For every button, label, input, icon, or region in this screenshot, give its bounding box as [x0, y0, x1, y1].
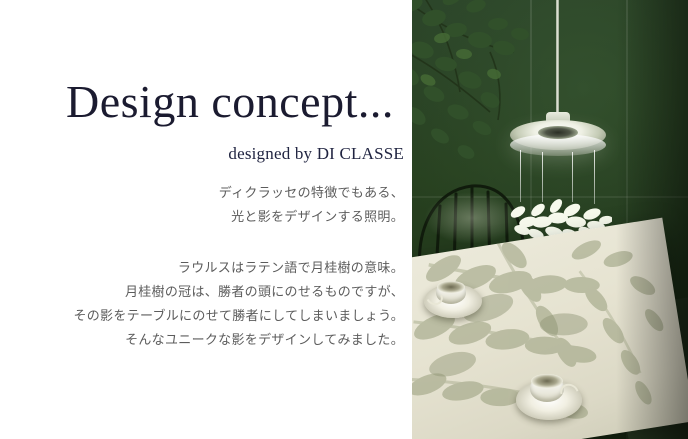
- lamp-hanging-wire: [572, 152, 573, 202]
- paragraph-line: そんなユニークな影をデザインしてみました。: [8, 328, 404, 352]
- cup-rim: [531, 374, 563, 388]
- lamp-hanging-wire: [520, 150, 521, 202]
- paragraph-line: 光と影をデザインする照明。: [8, 205, 404, 229]
- text-column: Design concept... designed by DI CLASSE …: [0, 0, 412, 439]
- coffee-cup-lower: [516, 370, 588, 422]
- lamp-suspension-rod: [556, 0, 559, 118]
- description-paragraph-2: ラウルスはラテン語で月桂樹の意味。 月桂樹の冠は、勝者の頭にのせるものですが、 …: [8, 256, 404, 352]
- product-photo: [412, 0, 688, 439]
- pendant-lamp: [498, 0, 618, 230]
- paragraph-line: ディクラッセの特徴でもある、: [8, 181, 404, 205]
- design-concept-page: Design concept... designed by DI CLASSE …: [0, 0, 688, 439]
- designer-byline: designed by DI CLASSE: [8, 144, 404, 164]
- paragraph-line: 月桂樹の冠は、勝者の頭にのせるものですが、: [8, 280, 404, 304]
- coffee-cup-upper: [424, 278, 484, 322]
- cup-rim: [437, 281, 465, 293]
- page-title: Design concept...: [66, 76, 394, 128]
- lamp-bulb-housing: [538, 126, 578, 139]
- photo-vignette: [616, 0, 688, 439]
- description-paragraph-1: ディクラッセの特徴でもある、 光と影をデザインする照明。: [8, 181, 404, 229]
- lamp-hanging-wire: [542, 152, 543, 202]
- paragraph-line: ラウルスはラテン語で月桂樹の意味。: [8, 256, 404, 280]
- paragraph-line: その影をテーブルにのせて勝者にしてしまいましょう。: [8, 304, 404, 328]
